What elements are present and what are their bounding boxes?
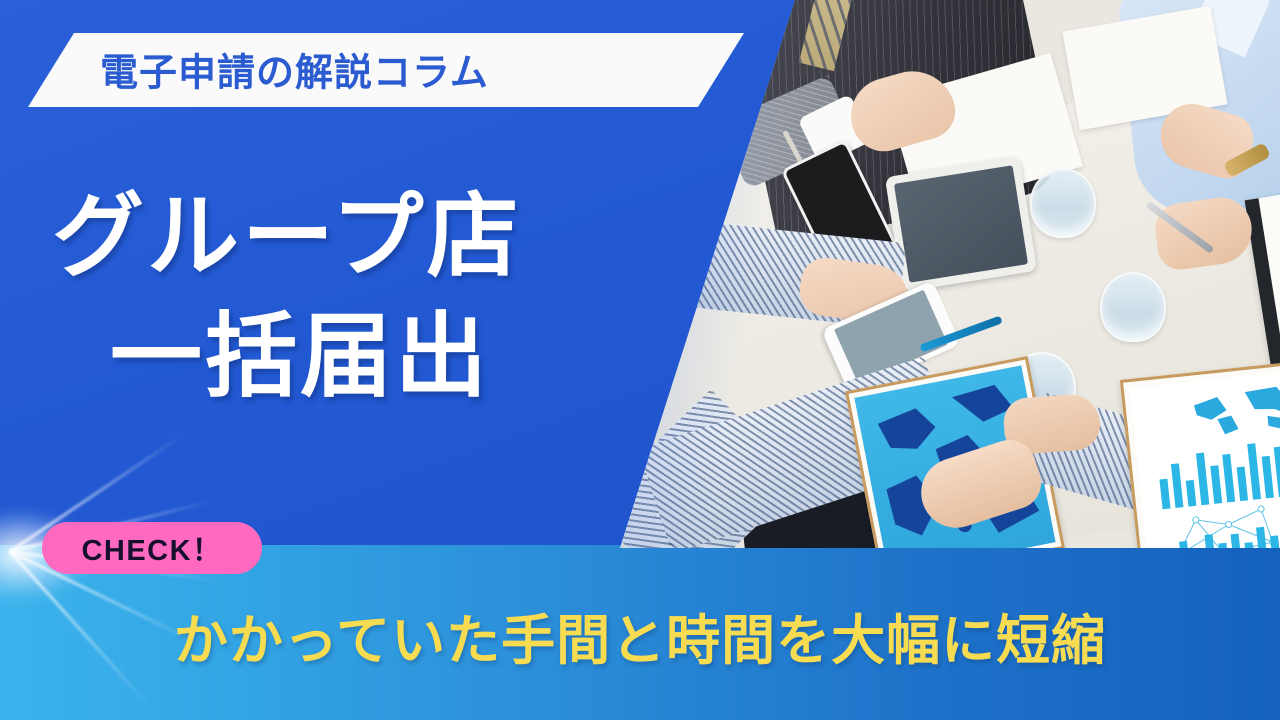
bar	[1262, 456, 1274, 499]
headline-line-2: 一括届出	[110, 298, 652, 418]
bar	[1256, 527, 1268, 548]
water-glass-2	[1100, 272, 1166, 342]
bar	[1179, 541, 1190, 548]
header-banner: 電子申請の解説コラム	[28, 33, 744, 107]
bar	[1247, 443, 1261, 500]
banner-canvas: 電子申請の解説コラム グループ店 一括届出 CHECK！ かかっていた手間と時間…	[0, 0, 1280, 720]
bar	[1222, 454, 1235, 503]
report-paper	[1130, 367, 1280, 548]
bar	[1210, 465, 1222, 504]
bar	[1196, 453, 1209, 506]
bar	[1274, 447, 1280, 498]
bar	[1205, 534, 1217, 548]
tagline-text: かかっていた手間と時間を大幅に短縮	[0, 596, 1280, 675]
bar	[1186, 480, 1197, 507]
bar	[1237, 466, 1249, 501]
water-glass-1	[1030, 168, 1096, 238]
bar	[1231, 533, 1243, 548]
check-badge-label: CHECK！	[81, 527, 222, 569]
report-world-map	[1189, 380, 1280, 439]
headline-line-1: グループ店	[52, 178, 652, 298]
bar	[1159, 479, 1170, 510]
report-bar-chart-upper	[1157, 436, 1280, 509]
tablet-screen-left	[894, 165, 1028, 283]
check-badge: CHECK！	[42, 522, 262, 574]
banner-label: 電子申請の解説コラム	[100, 41, 489, 96]
clipboard-report	[1120, 357, 1280, 548]
bar	[1171, 463, 1184, 508]
tablet-device-left	[885, 156, 1037, 292]
bar	[1218, 543, 1229, 548]
bar	[1245, 542, 1255, 548]
report-map-svg	[1189, 380, 1280, 439]
bar	[1270, 535, 1280, 548]
page-title: グループ店 一括届出	[52, 178, 652, 417]
